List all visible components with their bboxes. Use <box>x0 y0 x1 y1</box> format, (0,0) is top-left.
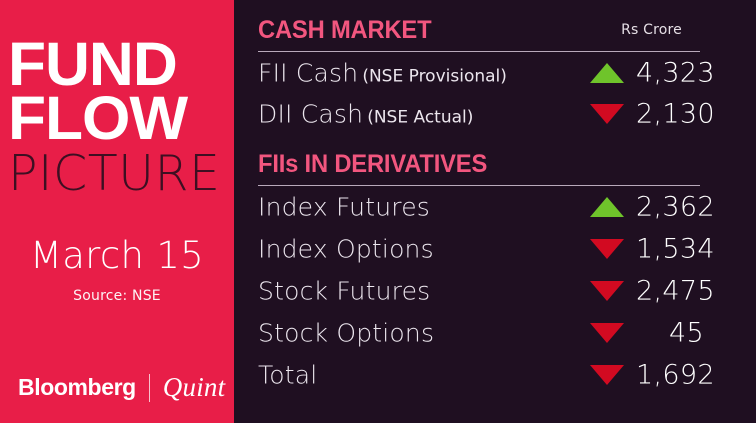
row-value: 2,475 <box>636 276 704 307</box>
row-label: Total <box>258 361 317 390</box>
logo-bloomberg-text: Bloomberg <box>18 374 136 401</box>
row-label: DII Cash(NSE Actual) <box>258 99 473 128</box>
logo-divider <box>149 374 150 402</box>
row-value: 1,534 <box>636 234 704 265</box>
section-cash-market: CASH MARKET Rs Crore FII Cash(NSE Provis… <box>258 16 756 134</box>
data-panel: CASH MARKET Rs Crore FII Cash(NSE Provis… <box>234 0 756 423</box>
section-header: CASH MARKET Rs Crore <box>258 16 700 50</box>
table-row: Index Futures 2,362 <box>258 186 718 228</box>
row-label-text: Stock Futures <box>258 277 430 306</box>
row-label: Index Futures <box>258 193 430 222</box>
row-value: 2,130 <box>636 98 704 129</box>
triangle-down-icon <box>590 281 624 301</box>
triangle-up-icon <box>590 63 624 83</box>
title-line-fund: FUND <box>8 38 234 90</box>
section-title-cash-market: CASH MARKET <box>258 16 431 45</box>
triangle-down-icon <box>590 323 624 343</box>
triangle-down-icon <box>590 365 624 385</box>
section-title-fiis-in-derivatives: FIIs IN DERIVATIVES <box>258 150 487 179</box>
row-label: FII Cash(NSE Provisional) <box>258 58 507 87</box>
title-line-flow: FLOW <box>8 92 234 144</box>
derivatives-rows: Index Futures 2,362 Index Options 1,534 … <box>258 186 718 396</box>
table-row: DII Cash(NSE Actual) 2,130 <box>258 93 718 134</box>
triangle-down-icon <box>590 239 624 259</box>
unit-label-rs-crore: Rs Crore <box>621 22 682 38</box>
section-fiis-in-derivatives: FIIs IN DERIVATIVES Index Futures 2,362 … <box>258 150 756 396</box>
source-label: Source: NSE <box>0 288 234 304</box>
report-date: March 15 <box>0 234 234 277</box>
row-label-text: Total <box>258 361 317 390</box>
row-label-note: (NSE Actual) <box>367 107 473 127</box>
row-value: 2,362 <box>636 192 704 223</box>
logo-quint-text: Quint <box>163 372 226 403</box>
row-label-note: (NSE Provisional) <box>362 66 507 86</box>
row-label: Stock Options <box>258 319 434 348</box>
row-value: 1,692 <box>636 360 704 391</box>
fund-flow-infographic: FUND FLOW PICTURE March 15 Source: NSE B… <box>0 0 756 423</box>
row-label: Stock Futures <box>258 277 430 306</box>
branding-panel: FUND FLOW PICTURE March 15 Source: NSE B… <box>0 0 234 423</box>
row-label: Index Options <box>258 235 434 264</box>
row-value: 45 <box>636 318 704 349</box>
row-label-text: Index Futures <box>258 193 430 222</box>
table-row: Index Options 1,534 <box>258 228 718 270</box>
row-value: 4,323 <box>636 57 704 88</box>
poster-title-block: FUND FLOW PICTURE <box>8 38 234 198</box>
row-label-text: DII Cash <box>258 99 363 128</box>
table-row: FII Cash(NSE Provisional) 4,323 <box>258 52 718 93</box>
row-label-text: Stock Options <box>258 319 434 348</box>
bloombergquint-logo: Bloomberg Quint <box>18 372 225 403</box>
row-label-text: FII Cash <box>258 58 358 87</box>
triangle-down-icon <box>590 104 624 124</box>
table-row: Stock Options 45 <box>258 312 718 354</box>
cash-market-rows: FII Cash(NSE Provisional) 4,323 DII Cash… <box>258 52 718 134</box>
row-label-text: Index Options <box>258 235 434 264</box>
table-row: Total 1,692 <box>258 354 718 396</box>
title-line-picture: PICTURE <box>8 149 234 198</box>
table-row: Stock Futures 2,475 <box>258 270 718 312</box>
section-header: FIIs IN DERIVATIVES <box>258 150 700 184</box>
triangle-up-icon <box>590 197 624 217</box>
